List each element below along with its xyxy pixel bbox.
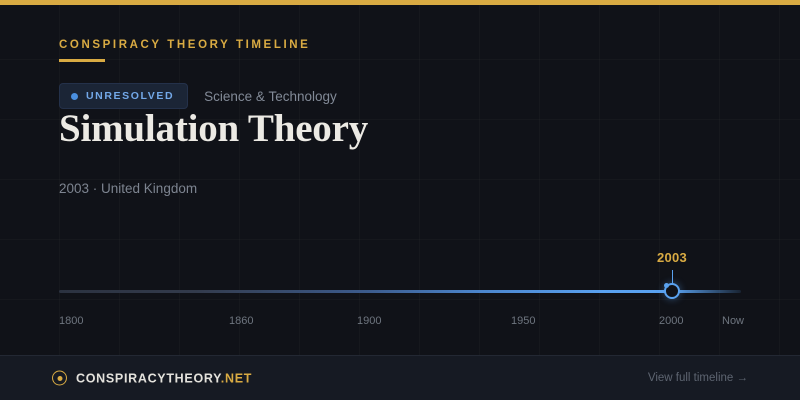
status-dot-icon bbox=[71, 93, 78, 100]
eye-circle-icon bbox=[52, 371, 67, 386]
timeline-marker-year-label: 2003 bbox=[657, 250, 687, 265]
status-badge-label: UNRESOLVED bbox=[86, 90, 174, 102]
brand-name: CONSPIRACYTHEORY.NET bbox=[76, 371, 252, 385]
timeline-marker-core-dot bbox=[664, 283, 669, 288]
category-label[interactable]: Science & Technology bbox=[204, 89, 337, 104]
brand-name-tld: .NET bbox=[221, 371, 252, 385]
top-accent-bar bbox=[0, 0, 800, 5]
kicker-label: CONSPIRACY THEORY TIMELINE bbox=[59, 39, 310, 51]
kicker-block: CONSPIRACY THEORY TIMELINE bbox=[59, 39, 310, 62]
timeline-tick-1800: 1800 bbox=[59, 315, 83, 327]
timeline-tick-1950: 1950 bbox=[511, 315, 535, 327]
timeline-widget[interactable]: 2003 18001860190019502000Now bbox=[59, 245, 741, 335]
footer-bar: CONSPIRACYTHEORY.NET View full timeline … bbox=[0, 355, 800, 400]
timeline-tick-1900: 1900 bbox=[357, 315, 381, 327]
main-content: CONSPIRACY THEORY TIMELINE UNRESOLVED Sc… bbox=[0, 5, 800, 355]
timeline-track[interactable] bbox=[59, 290, 741, 293]
brand-name-main: CONSPIRACYTHEORY bbox=[76, 371, 221, 385]
brand-logo[interactable]: CONSPIRACYTHEORY.NET bbox=[52, 371, 252, 386]
kicker-underline bbox=[59, 59, 105, 62]
page-title: Simulation Theory bbox=[59, 106, 368, 152]
timeline-tick-2000: 2000 bbox=[659, 315, 683, 327]
timeline-tick-1860: 1860 bbox=[229, 315, 253, 327]
timeline-marker-ring-icon[interactable] bbox=[664, 283, 680, 299]
article-meta: 2003 · United Kingdom bbox=[59, 181, 197, 196]
view-full-timeline-link[interactable]: View full timeline → bbox=[648, 372, 748, 384]
timeline-tick-now: Now bbox=[722, 315, 744, 327]
